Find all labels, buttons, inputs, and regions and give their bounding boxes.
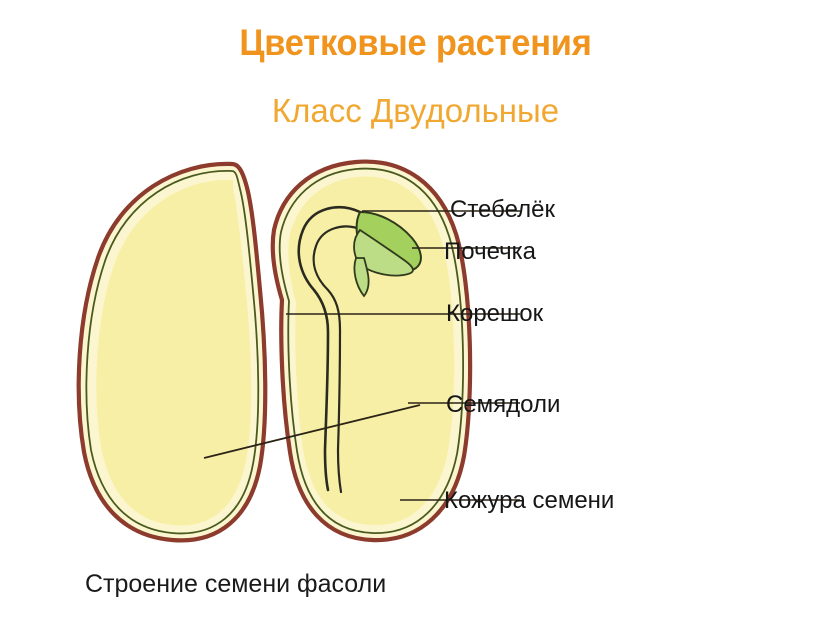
- diagram-caption: Строение семени фасоли: [85, 570, 386, 599]
- left-cotyledon: [79, 164, 266, 540]
- label-pochechka: Почечка: [444, 238, 536, 266]
- label-kozhura-semeni: Кожура семени: [444, 487, 614, 515]
- label-koreshok: Корешок: [446, 300, 543, 328]
- slide-canvas: Цветковые растения Класс Двудольные: [0, 0, 831, 623]
- label-semyadoli: Семядоли: [446, 391, 560, 419]
- page-title: Цветковые растения: [29, 22, 802, 64]
- label-stebelek: Стебелёк: [450, 196, 555, 224]
- page-subtitle: Класс Двудольные: [0, 92, 831, 130]
